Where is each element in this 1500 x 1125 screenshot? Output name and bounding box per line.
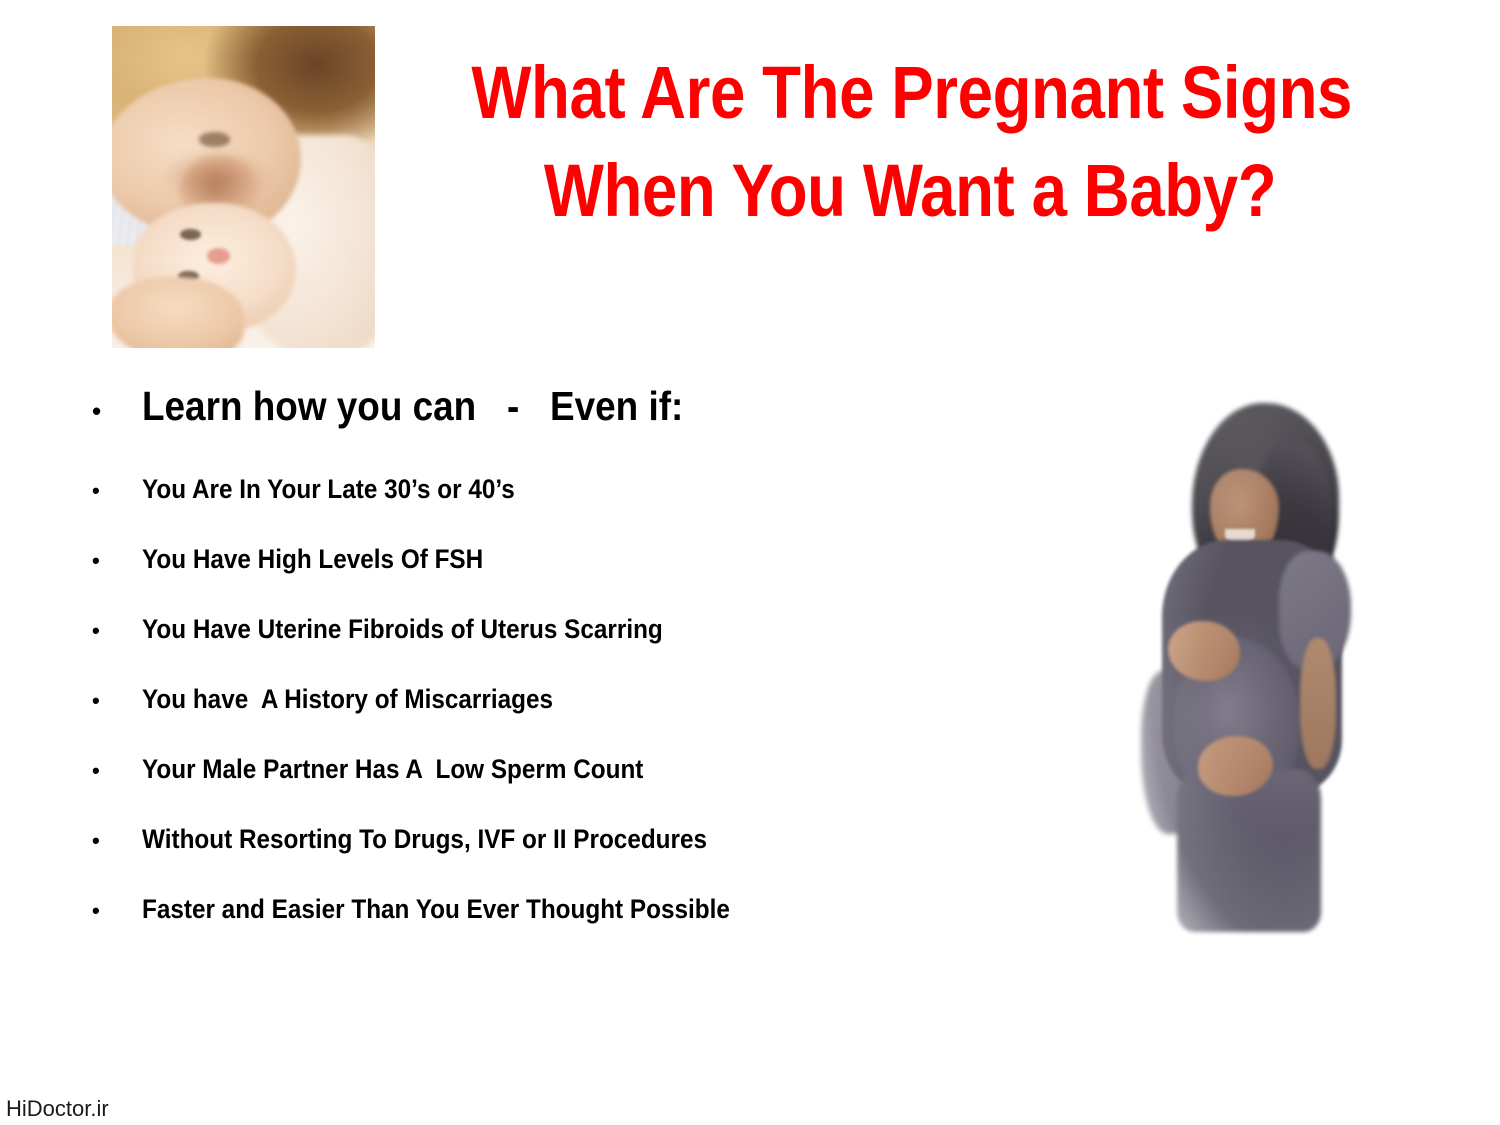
bullet-point-icon: •	[80, 690, 142, 712]
title-line-1: What Are The Pregnant Signs	[471, 44, 1348, 142]
page-title: What Are The Pregnant Signs When You Wan…	[400, 44, 1420, 240]
bullet-point-icon: •	[80, 760, 142, 782]
list-item-lead: • Learn how you can - Even if:	[80, 386, 980, 442]
list-item-label: You Have High Levels Of FSH	[142, 546, 483, 573]
list-item-label: Without Resorting To Drugs, IVF or II Pr…	[142, 826, 707, 853]
list-item: • Without Resorting To Drugs, IVF or II …	[80, 826, 980, 896]
pregnant-woman-photo	[1135, 398, 1435, 943]
bullet-list: • Learn how you can - Even if: • You Are…	[80, 386, 980, 966]
list-item-label: Faster and Easier Than You Ever Thought …	[142, 896, 730, 923]
list-item: • You Are In Your Late 30’s or 40’s	[80, 476, 980, 546]
list-item-label: You Are In Your Late 30’s or 40’s	[142, 476, 515, 503]
bullet-point-icon: •	[80, 900, 142, 922]
list-item-label: You have A History of Miscarriages	[142, 686, 553, 713]
list-item: • You have A History of Miscarriages	[80, 686, 980, 756]
bullet-point-icon: •	[80, 830, 142, 852]
list-item-label: You Have Uterine Fibroids of Uterus Scar…	[142, 616, 663, 643]
slide-canvas: What Are The Pregnant Signs When You Wan…	[0, 0, 1500, 1125]
mother-kissing-baby-photo	[112, 26, 375, 348]
bullet-point-icon: •	[80, 398, 142, 424]
list-item: • Faster and Easier Than You Ever Though…	[80, 896, 980, 966]
list-spacer	[80, 442, 980, 476]
bullet-point-icon: •	[80, 550, 142, 572]
list-item: • Your Male Partner Has A Low Sperm Coun…	[80, 756, 980, 826]
site-watermark: HiDoctor.ir	[6, 1096, 109, 1122]
bullet-point-icon: •	[80, 480, 142, 502]
bullet-point-icon: •	[80, 620, 142, 642]
list-item: • You Have Uterine Fibroids of Uterus Sc…	[80, 616, 980, 686]
list-item-label: Your Male Partner Has A Low Sperm Count	[142, 756, 643, 783]
title-line-2: When You Want a Baby?	[471, 142, 1348, 240]
list-item-label: Learn how you can - Even if:	[142, 386, 683, 427]
list-item: • You Have High Levels Of FSH	[80, 546, 980, 616]
